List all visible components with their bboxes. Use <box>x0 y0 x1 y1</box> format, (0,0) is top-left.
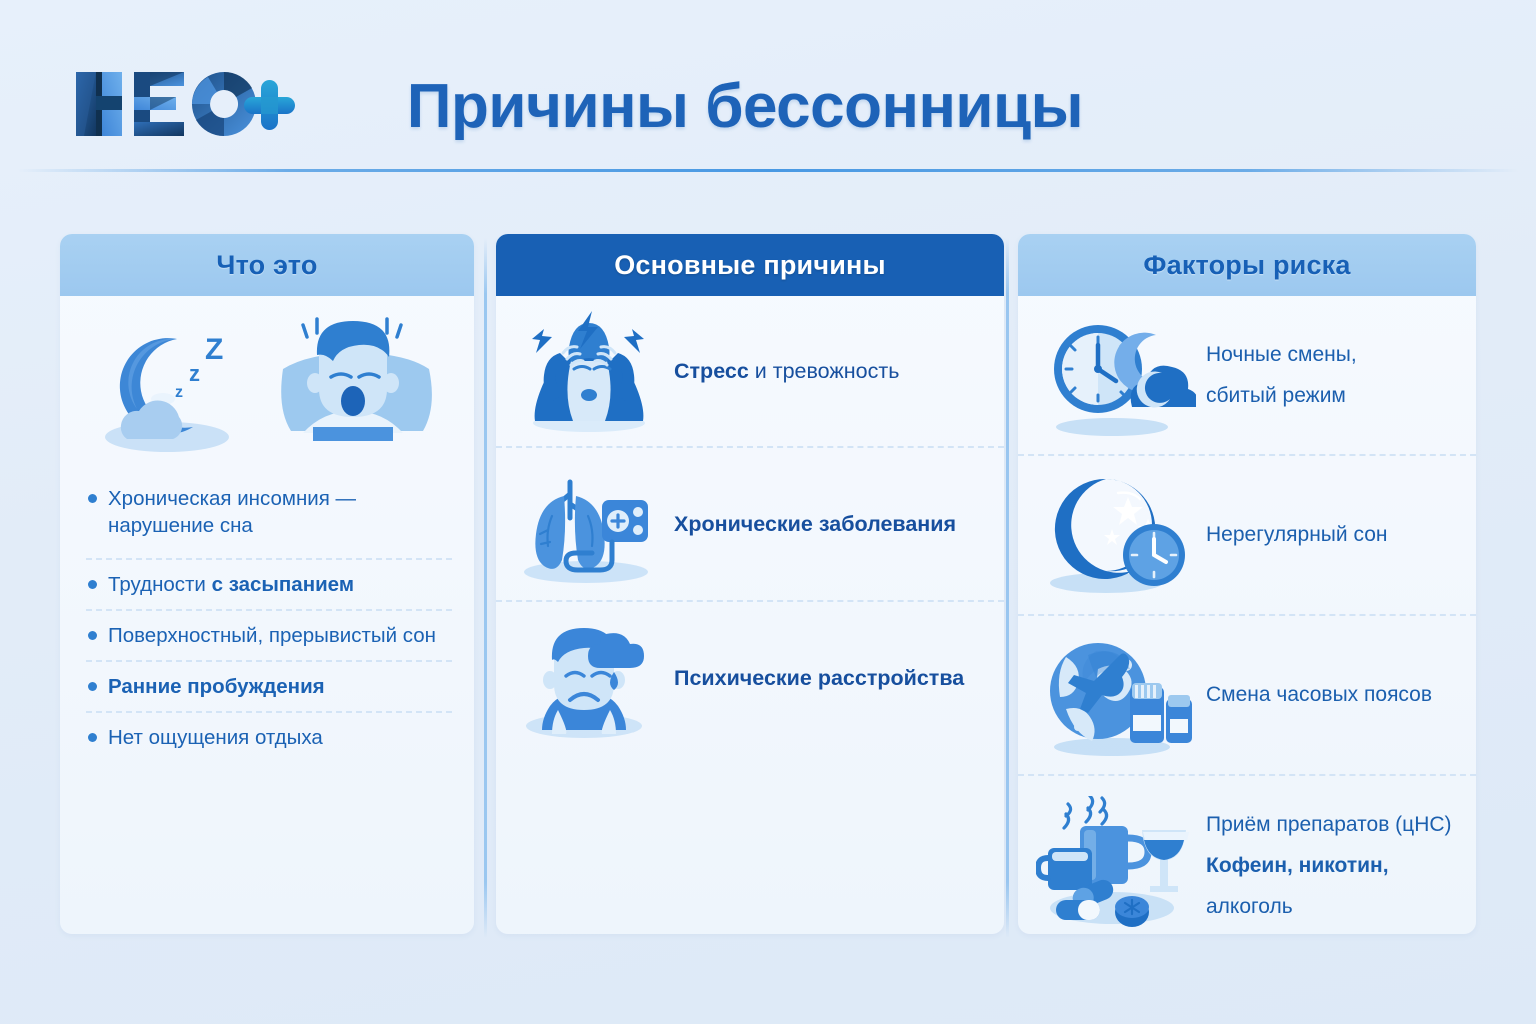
symptom-list: Хроническая инсомния — нарушение сна Тру… <box>60 468 474 762</box>
column-separator-1 <box>484 238 487 938</box>
neo-plus-logo <box>72 66 296 142</box>
column-separator-2 <box>1006 238 1009 938</box>
columns-board: Что это Z z z <box>0 196 1536 966</box>
risk-row-substances: Приём препаратов (цНС) Кофеин, никотин, … <box>1018 776 1476 934</box>
lungs-blood-pressure-icon <box>514 460 664 588</box>
sad-person-raincloud-icon <box>514 614 664 742</box>
hero-illustration-sleep: Z z z <box>60 296 474 468</box>
card-risk-factors: Факторы риска <box>1018 234 1476 934</box>
risk-label-night-shifts: Ночные смены, сбитый режим <box>1206 341 1357 410</box>
list-item-label: Нет ощущения отдыха <box>108 724 323 751</box>
list-item: Поверхностный, прерывистый сон <box>86 611 452 662</box>
cause-row-chronic: Хронические заболевания <box>496 448 1004 602</box>
bullet-dot-icon <box>88 631 97 640</box>
cause-label-mental: Психические расстройства <box>674 664 964 693</box>
page-header: Причины бессонницы <box>0 0 1536 170</box>
risk-label-timezones: Смена часовых поясов <box>1206 681 1432 709</box>
moon-zzz-icon: Z z z <box>101 307 269 457</box>
stress-headache-icon <box>514 307 664 435</box>
cause-label-chronic: Хронические заболевания <box>674 510 956 539</box>
list-item-label: Ранние пробуждения <box>108 673 325 700</box>
card-body-main-causes: Стресс и тревожность <box>496 296 1004 754</box>
card-what-is-it: Что это Z z z <box>60 234 474 934</box>
card-header-risk-factors: Факторы риска <box>1018 234 1476 296</box>
risk-row-night-shifts: Ночные смены, сбитый режим <box>1018 296 1476 456</box>
card-header-main-causes: Основные причины <box>496 234 1004 296</box>
cause-row-stress: Стресс и тревожность <box>496 296 1004 448</box>
svg-text:Z: Z <box>205 333 223 366</box>
risk-label-substances: Приём препаратов (цНС) Кофеин, никотин, … <box>1206 811 1452 921</box>
bullet-dot-icon <box>88 682 97 691</box>
infographic-page: Причины бессонницы Что это Z <box>0 0 1536 1024</box>
svg-text:z: z <box>175 384 183 401</box>
sleeping-person-icon <box>273 307 433 457</box>
coffee-wine-pills-icon <box>1036 796 1196 934</box>
risk-row-timezones: Смена часовых поясов <box>1018 616 1476 776</box>
list-item-label: Трудности с засыпанием <box>108 571 354 598</box>
list-item: Нет ощущения отдыха <box>86 713 452 762</box>
header-divider <box>18 169 1518 172</box>
card-body-what-is-it: Z z z <box>60 296 474 762</box>
crescent-stars-clock-icon <box>1036 471 1196 599</box>
risk-label-irregular-sleep: Нерегулярный сон <box>1206 521 1387 549</box>
card-body-risk-factors: Ночные смены, сбитый режим <box>1018 296 1476 934</box>
card-main-causes: Основные причины <box>496 234 1004 934</box>
cause-label-stress: Стресс и тревожность <box>674 357 899 386</box>
page-title: Причины бессонницы <box>360 58 1130 154</box>
list-item: Ранние пробуждения <box>86 662 452 713</box>
list-item-label: Хроническая инсомния — нарушение сна <box>108 485 452 539</box>
risk-row-irregular-sleep: Нерегулярный сон <box>1018 456 1476 616</box>
clock-moon-icon <box>1036 311 1196 439</box>
svg-text:z: z <box>189 361 200 386</box>
list-item-label: Поверхностный, прерывистый сон <box>108 622 436 649</box>
bullet-dot-icon <box>88 494 97 503</box>
list-item: Хроническая инсомния — нарушение сна <box>86 474 452 560</box>
globe-plane-pills-icon <box>1036 631 1196 759</box>
card-header-what-is-it: Что это <box>60 234 474 296</box>
cause-row-mental: Психические расстройства <box>496 602 1004 754</box>
bullet-dot-icon <box>88 580 97 589</box>
list-item: Трудности с засыпанием <box>86 560 452 611</box>
bullet-dot-icon <box>88 733 97 742</box>
